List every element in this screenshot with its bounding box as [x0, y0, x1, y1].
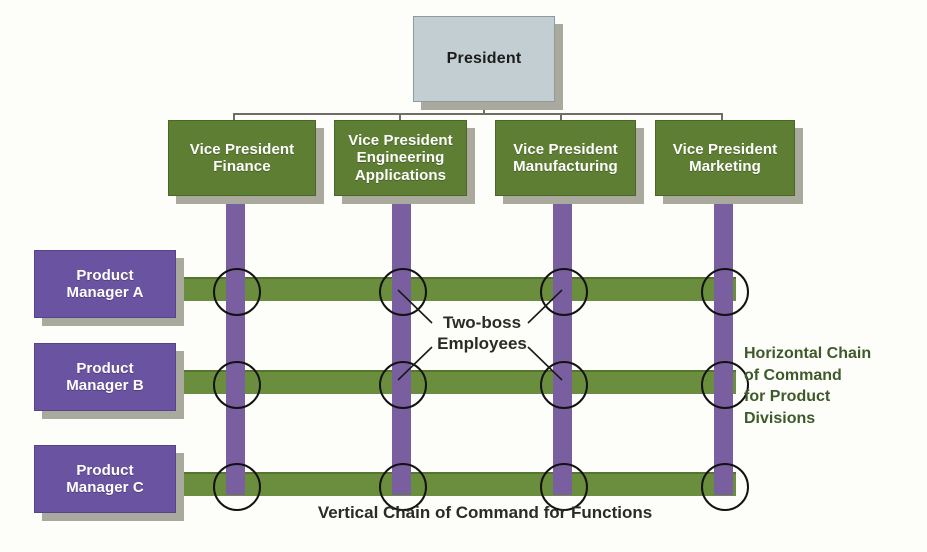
vp-bus-line — [233, 113, 723, 115]
vp-box-manufacturing[interactable]: Vice President Manufacturing — [495, 120, 636, 196]
two-boss-node[interactable] — [213, 361, 261, 409]
pm-box-a[interactable]: Product Manager A — [34, 250, 176, 318]
two-boss-node[interactable] — [701, 463, 749, 511]
two-boss-node[interactable] — [379, 268, 427, 316]
two-boss-node[interactable] — [540, 361, 588, 409]
horizontal-chain-annotation: Horizontal Chain of Command for Product … — [744, 343, 919, 429]
vp-label-finance: Vice President Finance — [190, 141, 295, 176]
pm-box-c[interactable]: Product Manager C — [34, 445, 176, 513]
pm-label-b: Product Manager B — [66, 360, 144, 395]
vertical-chain-bar-manufacturing — [553, 198, 572, 495]
two-boss-node[interactable] — [213, 268, 261, 316]
two-boss-node[interactable] — [540, 268, 588, 316]
vp-label-marketing: Vice President Marketing — [673, 141, 778, 176]
pm-box-b[interactable]: Product Manager B — [34, 343, 176, 411]
vp-label-engineering: Vice President Engineering Applications — [348, 132, 453, 184]
two-boss-node[interactable] — [701, 361, 749, 409]
two-boss-node[interactable] — [379, 361, 427, 409]
president-box[interactable]: President — [413, 16, 555, 102]
pm-label-c: Product Manager C — [66, 462, 144, 497]
vertical-chain-bar-finance — [226, 198, 245, 495]
vertical-chain-annotation: Vertical Chain of Command for Functions — [290, 503, 680, 523]
president-label: President — [447, 50, 522, 69]
vertical-chain-bar-marketing — [714, 198, 733, 495]
vp-box-marketing[interactable]: Vice President Marketing — [655, 120, 795, 196]
vp-box-finance[interactable]: Vice President Finance — [168, 120, 316, 196]
vp-box-engineering[interactable]: Vice President Engineering Applications — [334, 120, 467, 196]
matrix-org-chart: President Vice President Finance Vice Pr… — [0, 0, 927, 552]
vp-label-manufacturing: Vice President Manufacturing — [513, 141, 618, 176]
vertical-chain-bar-engineering — [392, 198, 411, 495]
two-boss-employees-annotation: Two-boss Employees — [428, 312, 536, 355]
two-boss-node[interactable] — [213, 463, 261, 511]
two-boss-node[interactable] — [701, 268, 749, 316]
pm-label-a: Product Manager A — [66, 267, 143, 302]
